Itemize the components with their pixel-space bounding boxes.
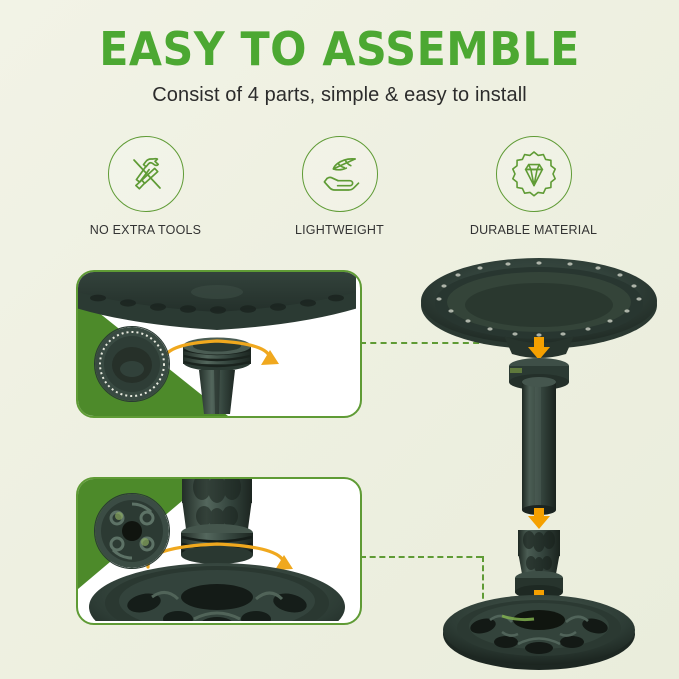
ornate-finial-collar bbox=[515, 530, 563, 599]
no-tools-icon bbox=[121, 149, 171, 199]
infographic-root: EASY TO ASSEMBLE Consist of 4 parts, sim… bbox=[0, 0, 679, 679]
product-assembly-diagram bbox=[398, 258, 679, 673]
callout-card-bowl: The rod can be easily rotated to connect… bbox=[76, 270, 362, 418]
feature-badge-label: LIGHTWEIGHT bbox=[295, 223, 384, 237]
center-rod bbox=[522, 377, 556, 515]
badge-circle bbox=[302, 136, 378, 212]
bowl-underside-thumb bbox=[94, 326, 170, 402]
diamond-seal-icon bbox=[508, 148, 560, 200]
base-top-view-thumb bbox=[94, 493, 170, 569]
badge-circle bbox=[496, 136, 572, 212]
pedestal-base bbox=[443, 595, 635, 670]
feature-badge-durable-material: DURABLE MATERIAL bbox=[459, 136, 609, 237]
feature-badge-label: DURABLE MATERIAL bbox=[470, 223, 597, 237]
page-subtitle: Consist of 4 parts, simple & easy to ins… bbox=[0, 84, 679, 107]
feature-badge-lightweight: LIGHTWEIGHT bbox=[265, 136, 415, 237]
feature-badge-list: NO EXTRA TOOLS bbox=[0, 136, 679, 237]
page-title: EASY TO ASSEMBLE bbox=[24, 26, 655, 72]
feature-badge-label: NO EXTRA TOOLS bbox=[90, 223, 201, 237]
badge-circle bbox=[108, 136, 184, 212]
feature-badge-no-extra-tools: NO EXTRA TOOLS bbox=[71, 136, 221, 237]
feather-in-hand-icon bbox=[314, 149, 366, 199]
callout-card-base: Easily rotate to connect with the base bbox=[76, 477, 362, 625]
